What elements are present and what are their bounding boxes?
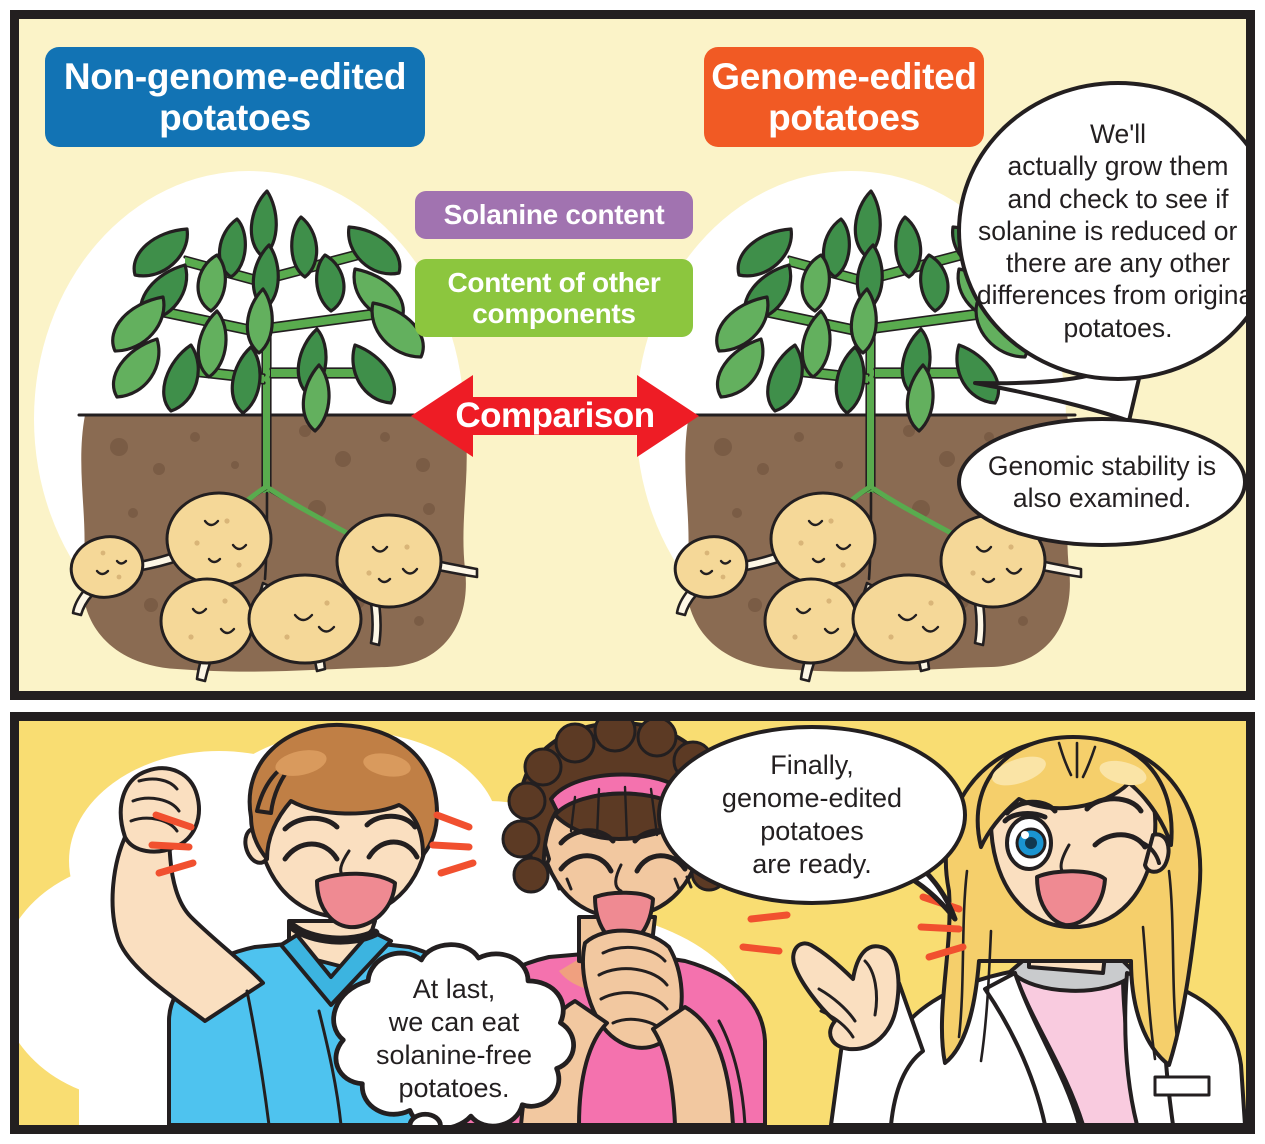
label-non-genome-edited-text: Non-genome-edited potatoes	[64, 56, 406, 139]
speech-bubble-grow-check-text: We'll actually grow them and check to se…	[977, 118, 1255, 344]
panel-bottom: At last, we can eat solanine-free potato…	[10, 712, 1255, 1134]
thought-bubble-at-last	[309, 939, 589, 1134]
comic-strip: Non-genome-edited potatoes Genome-edited…	[0, 0, 1265, 1144]
speech-bubble-grow-check: We'll actually grow them and check to se…	[957, 81, 1255, 381]
label-solanine-content-text: Solanine content	[444, 199, 665, 230]
speech-bubble-finally-ready-text: Finally, genome-edited potatoes are read…	[671, 749, 953, 881]
label-non-genome-edited-potatoes: Non-genome-edited potatoes	[45, 47, 425, 147]
label-other-components-text: Content of other components	[448, 267, 661, 330]
label-solanine-content: Solanine content	[415, 191, 693, 239]
speech-bubble-genomic-stability: Genomic stability is also examined.	[957, 417, 1247, 547]
speech-bubble-finally-ready: Finally, genome-edited potatoes are read…	[657, 725, 967, 905]
comparison-double-arrow-icon	[411, 371, 699, 461]
bottom-panel-illustration	[19, 721, 1246, 1125]
label-genome-edited-text: Genome-edited potatoes	[711, 56, 976, 139]
speech-bubble-genomic-stability-text: Genomic stability is also examined.	[988, 450, 1216, 515]
panel-top: Non-genome-edited potatoes Genome-edited…	[10, 10, 1255, 700]
label-genome-edited-potatoes: Genome-edited potatoes	[704, 47, 984, 147]
label-other-components: Content of other components	[415, 259, 693, 337]
